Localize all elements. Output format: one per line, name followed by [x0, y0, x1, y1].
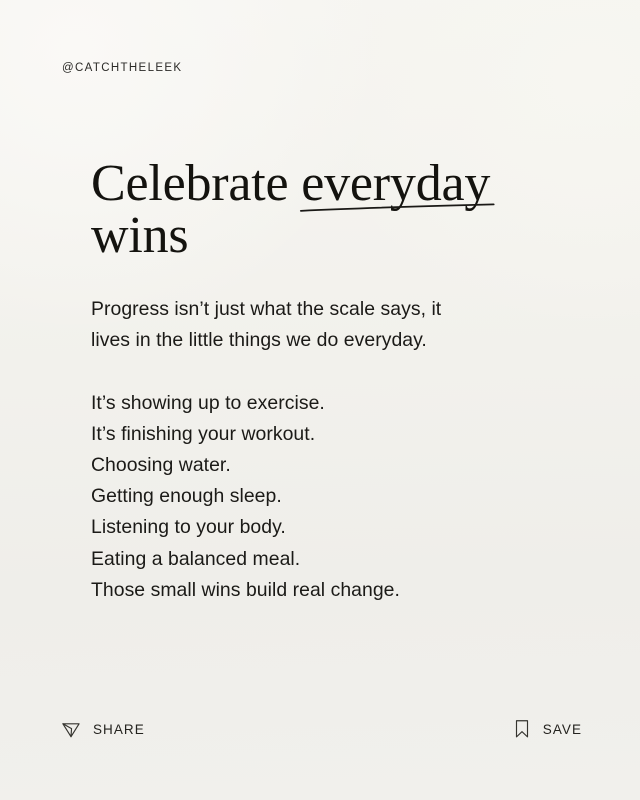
share-label: SHARE [93, 722, 145, 737]
social-post-card: @CATCHTHELEEK Celebrate everyday wins Pr… [0, 0, 640, 800]
intro-paragraph: Progress isn’t just what the scale says,… [91, 294, 561, 356]
bookmark-icon [512, 718, 532, 740]
intro-paragraph-line-2: lives in the little things we do everyda… [91, 329, 427, 351]
headline-emphasis-text: everyday [301, 155, 490, 212]
list-item: Eating a balanced meal. [91, 544, 561, 575]
account-handle[interactable]: @CATCHTHELEEK [62, 62, 182, 74]
list-item: It’s finishing your workout. [91, 419, 561, 450]
share-button[interactable]: SHARE [60, 712, 145, 746]
save-button[interactable]: SAVE [512, 712, 582, 746]
wins-list: It’s showing up to exercise. It’s finish… [91, 388, 561, 606]
headline-text-before: Celebrate [91, 155, 301, 212]
headline-line-1: Celebrate everyday [91, 158, 561, 210]
send-icon [60, 718, 82, 740]
intro-paragraph-line-1: Progress isn’t just what the scale says,… [91, 298, 441, 320]
post-body: Progress isn’t just what the scale says,… [91, 294, 561, 606]
page-title: Celebrate everyday wins [91, 158, 561, 262]
list-item: Choosing water. [91, 450, 561, 481]
paragraph-spacer [91, 356, 561, 387]
save-label: SAVE [543, 722, 582, 737]
list-item: Getting enough sleep. [91, 481, 561, 512]
headline-line-2: wins [91, 210, 561, 262]
post-footer: SHARE SAVE [0, 712, 640, 752]
list-item: It’s showing up to exercise. [91, 388, 561, 419]
list-item: Those small wins build real change. [91, 575, 561, 606]
headline-emphasis-word: everyday [301, 158, 490, 210]
list-item: Listening to your body. [91, 512, 561, 543]
